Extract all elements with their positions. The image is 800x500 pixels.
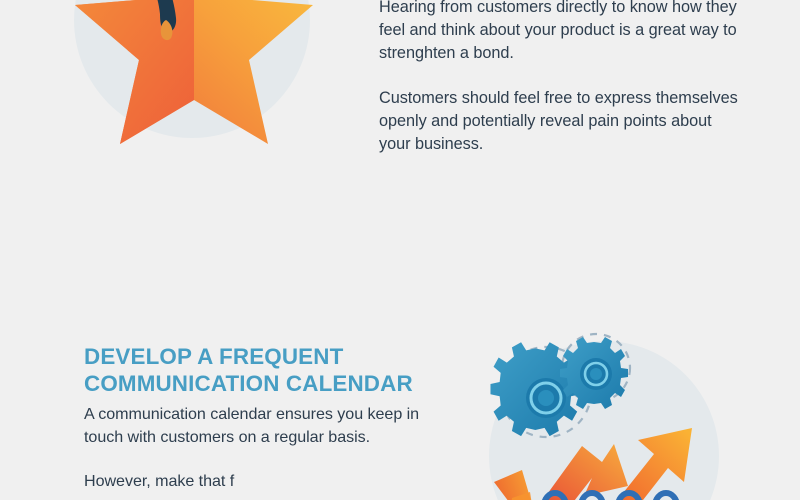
section-two-body: A communication calendar ensures you kee… bbox=[84, 403, 454, 493]
section-two-copy: DEVELOP A FREQUENT COMMUNICATION CALENDA… bbox=[84, 344, 454, 493]
section-heading-line-1: DEVELOP A FREQUENT bbox=[84, 344, 454, 371]
calendar-growth-illustration bbox=[478, 336, 730, 500]
section-heading: DEVELOP A FREQUENT COMMUNICATION CALENDA… bbox=[84, 344, 454, 397]
paragraph-clipped: However, make that f bbox=[84, 470, 454, 492]
infographic-page: Hearing from customers directly to know … bbox=[0, 0, 800, 500]
star-with-person-illustration bbox=[70, 0, 320, 162]
section-one-copy: Hearing from customers directly to know … bbox=[379, 0, 739, 155]
paragraph: A communication calendar ensures you kee… bbox=[84, 403, 454, 448]
section-heading-line-2: COMMUNICATION CALENDAR bbox=[84, 371, 454, 398]
paragraph: Hearing from customers directly to know … bbox=[379, 0, 739, 64]
paragraph: Customers should feel free to express th… bbox=[379, 87, 739, 155]
